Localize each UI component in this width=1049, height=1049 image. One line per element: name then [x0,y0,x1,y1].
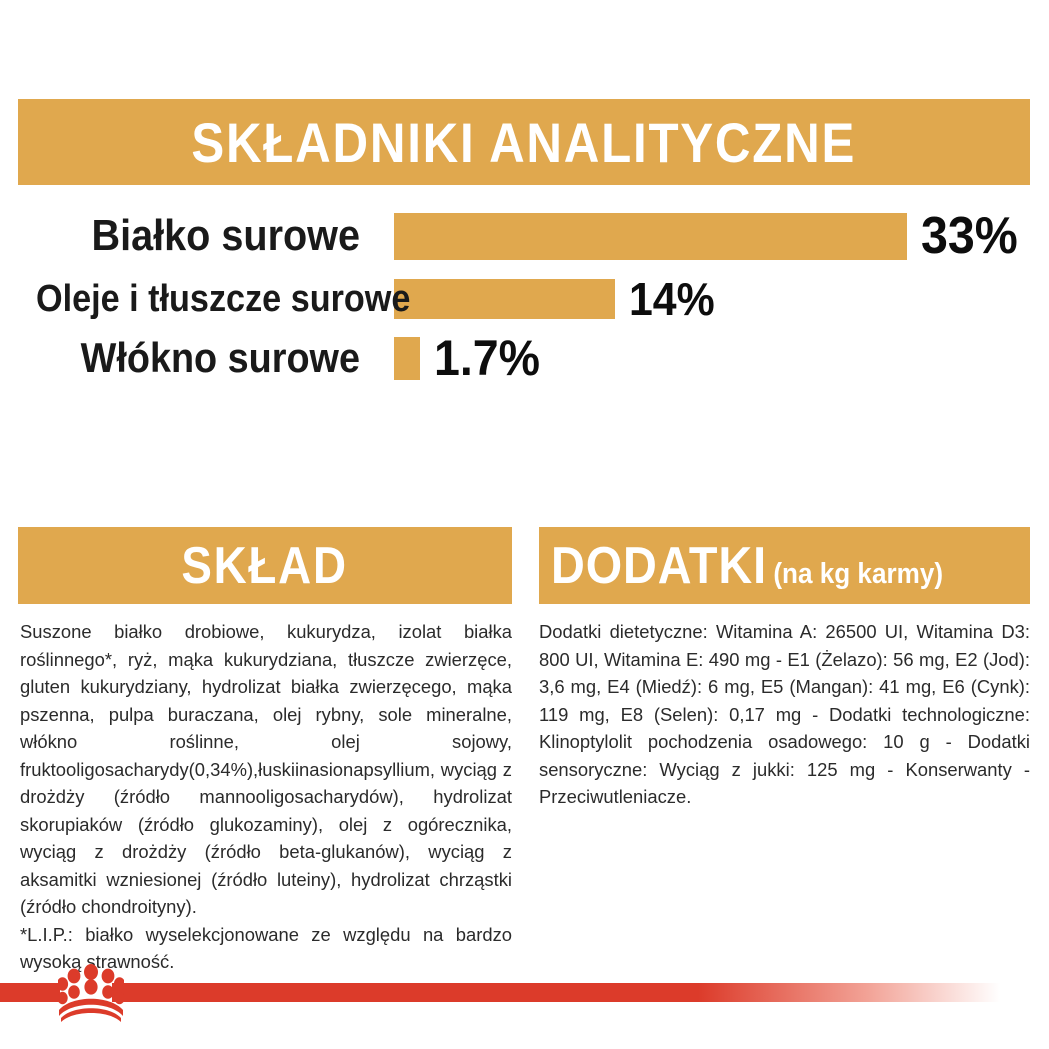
footer-red-bar-left [0,983,60,1002]
chart-bar [394,279,615,319]
royal-canin-crown-logo [58,964,124,1022]
footer-red-bar-right [112,983,1000,1002]
chart-bar [394,337,420,380]
composition-banner: SKŁAD [18,527,512,604]
chart-row: Oleje i tłuszcze surowe 14% [0,273,1049,325]
additives-title-group: DODATKI (na kg karmy) [551,536,943,596]
chart-value-label: 1.7% [434,333,540,383]
chart-bar-area: 33% [394,210,1025,262]
analytical-constituents-chart: Białko surowe 33% Oleje i tłuszcze surow… [0,205,1049,400]
chart-value-label: 33% [921,210,1018,262]
additives-title: DODATKI [551,536,767,596]
chart-bar-area: 1.7% [394,333,548,383]
chart-bar [394,213,907,260]
additives-banner: DODATKI (na kg karmy) [539,527,1030,604]
additives-subtitle: (na kg karmy) [773,558,943,591]
composition-text-block: Suszone białko drobiowe, kukurydza, izol… [20,618,512,976]
chart-category-label: Włókno surowe [36,337,360,379]
analytical-constituents-banner: SKŁADNIKI ANALITYCZNE [18,99,1030,185]
footer [0,983,1049,1049]
additives-text-block: Dodatki dietetyczne: Witamina A: 26500 U… [539,618,1030,811]
analytical-constituents-title: SKŁADNIKI ANALITYCZNE [192,110,857,175]
product-info-page: SKŁADNIKI ANALITYCZNE Białko surowe 33% … [0,0,1049,1049]
chart-category-label: Oleje i tłuszcze surowe [36,280,360,318]
chart-value-label: 14% [629,276,715,322]
chart-category-label: Białko surowe [36,214,360,258]
composition-title: SKŁAD [182,536,348,596]
chart-bar-area: 14% [394,276,721,322]
composition-ingredients: Suszone białko drobiowe, kukurydza, izol… [20,618,512,921]
chart-row: Białko surowe 33% [0,205,1049,267]
additives-list: Dodatki dietetyczne: Witamina A: 26500 U… [539,618,1030,811]
chart-row: Włókno surowe 1.7% [0,331,1049,385]
